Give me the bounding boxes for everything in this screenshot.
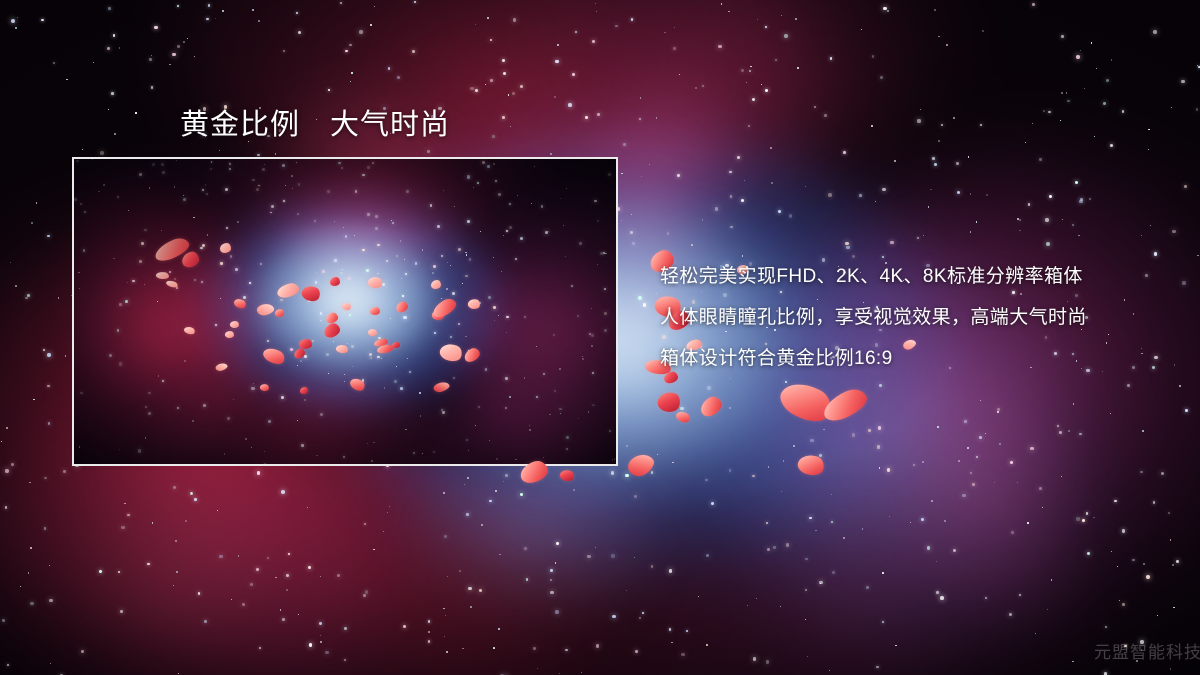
petal xyxy=(775,375,837,429)
petal xyxy=(796,451,827,478)
petal xyxy=(518,459,550,486)
body-text-block: 轻松完美实现FHD、2K、4K、8K标准分辨率箱体 人体眼睛瞳孔比例，享受视觉效… xyxy=(660,256,1180,379)
petal xyxy=(559,468,576,483)
body-line-2: 人体眼睛瞳孔比例，享受视觉效果，高端大气时尚 xyxy=(660,297,1180,338)
page-title: 黄金比例 大气时尚 xyxy=(180,101,450,143)
petal xyxy=(697,394,724,419)
body-line-1: 轻松完美实现FHD、2K、4K、8K标准分辨率箱体 xyxy=(660,256,1180,297)
petal xyxy=(819,385,871,426)
presentation-slide: 黄金比例 大气时尚 轻松完美实现FHD、2K、4K、8K标准分辨率箱体 人体眼睛… xyxy=(0,0,1200,675)
petal xyxy=(625,449,658,480)
body-line-3: 箱体设计符合黄金比例16:9 xyxy=(660,338,1180,379)
watermark-text: 元盟智能科技 xyxy=(1094,638,1200,663)
petal xyxy=(674,409,691,425)
